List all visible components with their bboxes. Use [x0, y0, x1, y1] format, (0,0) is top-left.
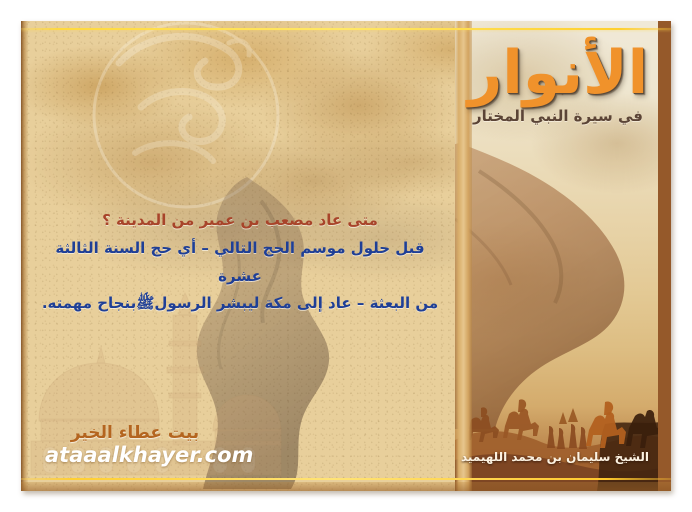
page-title: الأنوار — [463, 43, 653, 104]
bottom-gold-rule — [21, 478, 671, 480]
answer-line-1: قبل حلول موسم الحج التالي – أي حج السنة … — [41, 235, 439, 291]
site-watermark: بيت عطاء الخير ataaalkhayer.com — [45, 424, 225, 467]
watermark-arabic-name: بيت عطاء الخير — [45, 424, 225, 444]
page-subtitle: في سيرة النبي المختار — [463, 107, 653, 125]
slide-frame: الأنوار في سيرة النبي المختار متى عاد مص… — [0, 0, 692, 512]
top-gold-rule — [21, 28, 671, 30]
title-block: الأنوار في سيرة النبي المختار — [463, 43, 653, 125]
sallallahu-alayhi-wasallam-icon: ﷺ — [136, 294, 154, 312]
bottom-edge-shading — [21, 482, 671, 491]
panel-right-edge — [658, 21, 671, 491]
slide-canvas: الأنوار في سيرة النبي المختار متى عاد مص… — [21, 21, 671, 491]
question-line: متى عاد مصعب بن عمير من المدينة ؟ — [41, 207, 439, 235]
answer-line-2-after: بنجاح مهمته. — [42, 294, 136, 312]
answer-line-2: من البعثة – عاد إلى مكة ليبشر الرسولﷺبنج… — [41, 290, 439, 318]
watermark-url: ataaalkhayer.com — [45, 444, 225, 467]
left-edge-shading — [21, 21, 28, 491]
author-credit: الشيخ سليمان بن محمد اللهيميد — [457, 450, 653, 464]
lesson-text-block: متى عاد مصعب بن عمير من المدينة ؟ قبل حل… — [41, 207, 439, 318]
camel-caravan-icon — [455, 386, 671, 491]
answer-line-2-before: من البعثة – عاد إلى مكة ليبشر الرسول — [154, 294, 438, 312]
